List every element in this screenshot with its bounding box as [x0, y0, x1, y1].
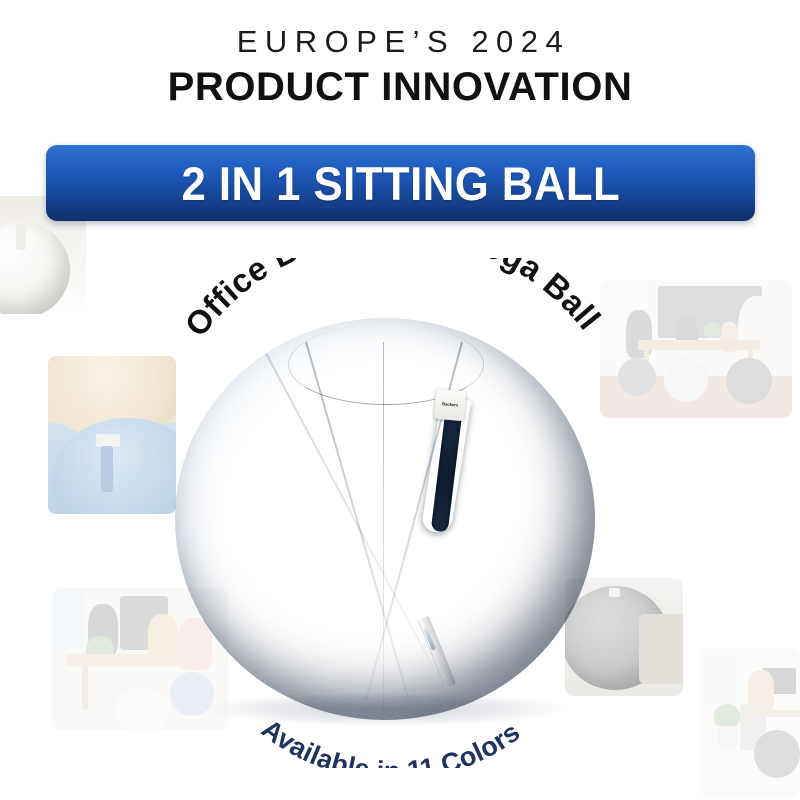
panel-seam: [383, 342, 385, 712]
scene-sitting-ball: [618, 358, 656, 396]
scene-pot: [718, 726, 738, 748]
swatch-handle: [16, 224, 26, 250]
thumbnail-home-office-desk: [700, 648, 800, 798]
scene: [700, 648, 800, 798]
brand-tag-text: Backers: [441, 402, 458, 409]
brand-tag: Backers: [434, 389, 467, 422]
thumbnail-cream-blue-swatch: [48, 356, 176, 514]
scene-plant: [704, 322, 722, 338]
scene-table: [66, 654, 188, 666]
scene-sitting-ball: [754, 730, 800, 778]
scene-sitting-ball: [114, 688, 170, 730]
swatch-handle-tag: [609, 588, 620, 597]
sitting-ball: Backers: [175, 318, 595, 720]
scene-window: [704, 656, 738, 710]
scene-desk: [744, 710, 800, 717]
scene-table-leg: [82, 666, 88, 710]
scene-window: [54, 592, 84, 648]
scene-plant: [714, 704, 740, 728]
scene-sitting-ball: [664, 358, 708, 402]
swatch-backdrop: [639, 614, 683, 684]
thumbnail-office-meeting-right: [600, 280, 792, 418]
scene-table: [638, 340, 760, 350]
banner-label: 2 IN 1 SITTING BALL: [181, 156, 620, 211]
product-image: Backers: [175, 318, 595, 720]
carry-handle: Backers: [423, 390, 483, 545]
swatch-handle-strap: [101, 446, 113, 492]
headline-block: EUROPE’S 2024 PRODUCT INNOVATION: [0, 26, 800, 109]
scene-sitting-ball: [726, 358, 772, 404]
product-poster: EUROPE’S 2024 PRODUCT INNOVATION 2 IN 1 …: [0, 0, 800, 800]
page-title: PRODUCT INNOVATION: [0, 65, 800, 110]
eyebrow-text: EUROPE’S 2024: [0, 26, 800, 59]
product-banner: 2 IN 1 SITTING BALL: [46, 145, 755, 221]
scene: [600, 280, 792, 418]
